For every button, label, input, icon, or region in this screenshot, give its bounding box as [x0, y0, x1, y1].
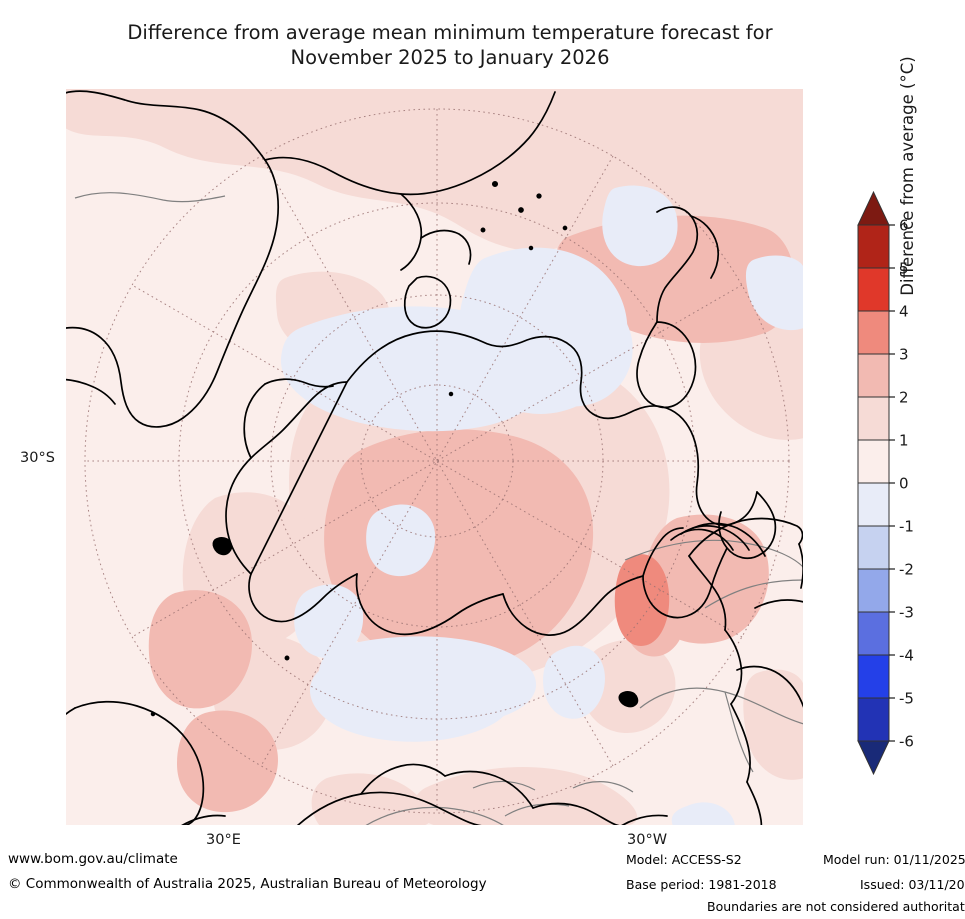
map-canvas[interactable]	[65, 88, 804, 826]
colorbar-band-minus2-to-minus1	[858, 526, 889, 569]
colorbar-band-1-to-2	[858, 397, 889, 440]
anomaly-band-3to4	[615, 554, 669, 646]
footer-website[interactable]: www.bom.gov.au/climate	[8, 851, 178, 867]
colorbar-band-minus4-to-minus3	[858, 612, 889, 655]
colorbar-band-2-to-3	[858, 354, 889, 397]
map-panel[interactable]	[65, 88, 804, 826]
colorbar-band-minus1-to-0	[858, 483, 889, 526]
colorbar-band-minus6-to-minus5	[858, 698, 889, 741]
colorbar-tick-label: 2	[899, 389, 909, 407]
colorbar-tick-label: -3	[899, 604, 914, 622]
colorbar-band-under-minus6	[858, 741, 889, 774]
colorbar-band-4-to-5	[858, 268, 889, 311]
colorbar-tick-label: 1	[899, 432, 909, 450]
footer-model-run: Model run: 01/11/2025	[823, 852, 965, 867]
colorbar-band-0-to-1	[858, 440, 889, 483]
colorbar-tick-label: -4	[899, 647, 914, 665]
colorbar-band-5-to-6	[858, 225, 889, 268]
colorbar-band-minus5-to-minus4	[858, 655, 889, 698]
colorbar-band-over-6	[858, 192, 889, 225]
colorbar-tick-label: 0	[899, 475, 909, 493]
axis-label-lat-30s: 30°S	[20, 450, 55, 466]
colorbar-band-minus3-to-minus2	[858, 569, 889, 612]
colorbar-band-3-to-4	[858, 311, 889, 354]
colorbar-tick-label: -6	[899, 733, 914, 751]
axis-label-lon-30w: 30°W	[627, 832, 667, 848]
colorbar-tick-label: -1	[899, 518, 914, 536]
colorbar-tick-label: -5	[899, 690, 914, 708]
footer-boundaries-note: Boundaries are not considered authoritat…	[707, 899, 965, 914]
footer-model: Model: ACCESS-S2	[626, 852, 742, 867]
colorbar-axis-title: Difference from average (°C)	[898, 0, 917, 356]
colorbar-tick-label: -2	[899, 561, 914, 579]
footer-copyright: © Commonwealth of Australia 2025, Austra…	[8, 876, 487, 892]
footer-issued: Issued: 03/11/2025	[860, 877, 965, 892]
colorbar-bands	[858, 192, 889, 774]
axis-label-lon-30e: 30°E	[206, 832, 241, 848]
footer-base-period: Base period: 1981-2018	[626, 877, 777, 892]
page-title: Difference from average mean minimum tem…	[0, 20, 900, 70]
